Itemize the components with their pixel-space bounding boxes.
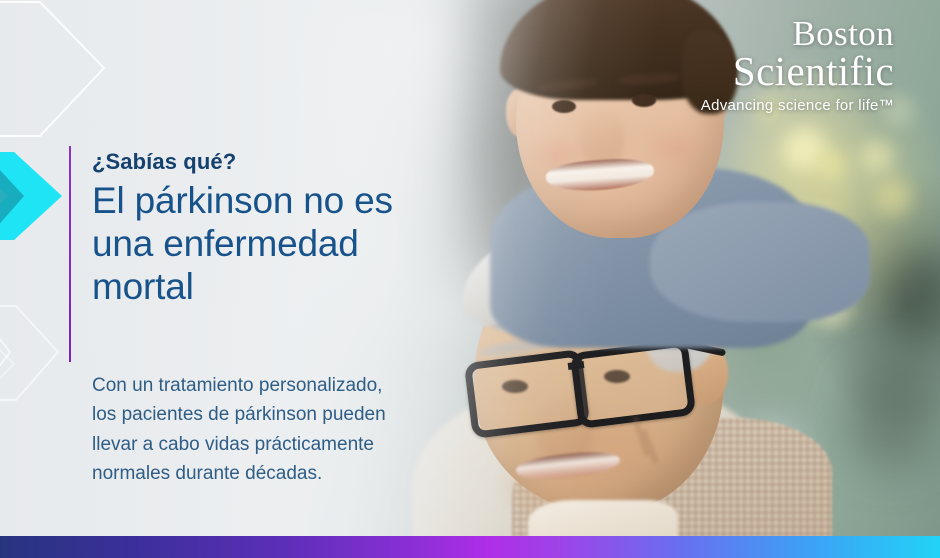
logo-tagline: Advancing science for life™	[701, 97, 894, 114]
brand-logo: Boston Scientific Advancing science for …	[701, 18, 894, 114]
purple-divider-rule	[69, 146, 71, 362]
chevron-solid-icon	[0, 150, 72, 242]
headline-line: una enfermedad	[92, 223, 452, 266]
headline-line: mortal	[92, 266, 452, 309]
body-line: normales durante décadas.	[92, 459, 462, 488]
headline-block: ¿Sabías qué? El párkinson no es una enfe…	[92, 150, 452, 309]
chevron-outline-icon	[0, 0, 108, 148]
body-line: llevar a cabo vidas prácticamente	[92, 430, 462, 459]
page-title: El párkinson no es una enfermedad mortal	[92, 180, 452, 309]
promo-banner: ¿Sabías qué? El párkinson no es una enfe…	[0, 0, 940, 558]
bottom-gradient-bar	[0, 536, 940, 558]
logo-wordmark-line1: Boston	[701, 18, 894, 51]
logo-wordmark-line2: Scientific	[701, 52, 894, 90]
eyebrow-text: ¿Sabías qué?	[92, 150, 452, 174]
headline-line: El párkinson no es	[92, 180, 452, 223]
body-line: los pacientes de párkinson pueden	[92, 400, 462, 429]
body-line: Con un tratamiento personalizado,	[92, 371, 462, 400]
body-copy: Con un tratamiento personalizado, los pa…	[92, 371, 462, 489]
